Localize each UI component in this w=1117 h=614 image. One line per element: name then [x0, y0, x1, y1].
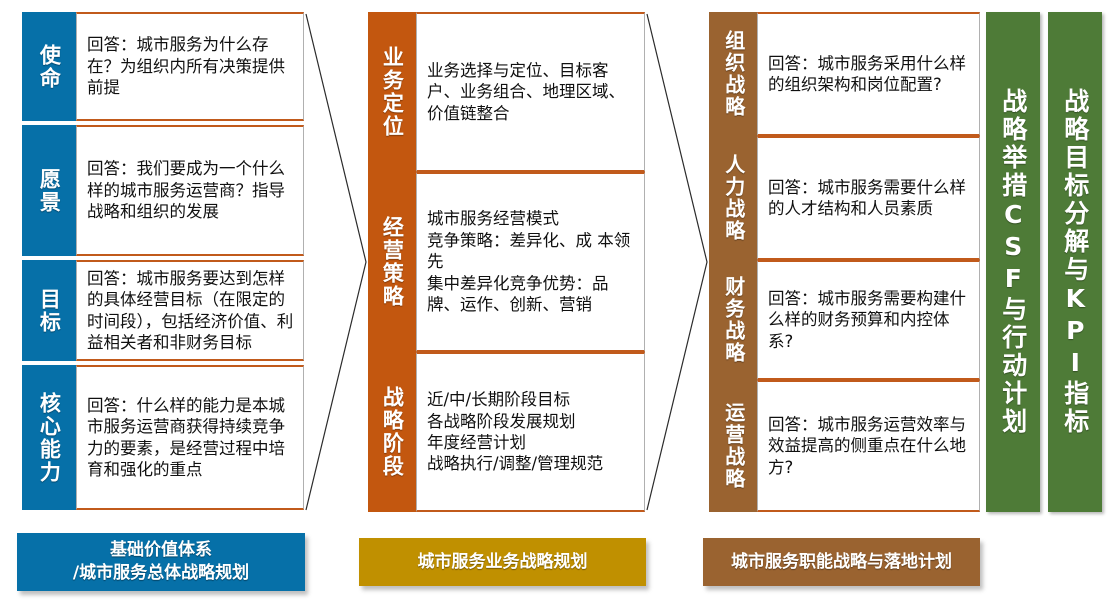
- cell-text: 业务选择与定位、目标客户、业务组合、地理区域、价值链整合: [417, 60, 644, 124]
- spine-label: 组织战略: [721, 30, 745, 118]
- banner-business[interactable]: 城市服务业务战略规划: [359, 538, 646, 586]
- banner-foundation[interactable]: 基础价值体系 /城市服务总体战略规划: [17, 533, 305, 591]
- spine-vision: 愿景: [22, 125, 76, 256]
- spine-org-strategy: 组织战略: [709, 12, 757, 136]
- spine-core-capability: 核心能力: [22, 365, 76, 510]
- cell-operations-strategy: 回答：城市服务运营效率与效益提高的侧重点在什么地方?: [757, 380, 980, 512]
- column-csf-action-plan[interactable]: 战略举措CSF与行动计划: [986, 12, 1040, 512]
- cell-core-capability: 回答：什么样的能力是本城市服务运营商获得持续竞争力的要素，是经营过程中培育和强化…: [76, 365, 304, 510]
- connector-line: [647, 14, 707, 510]
- cell-text: 近/中/长期阶段目标 各战略阶段发展规划 年度经营计划 战略执行/调整/管理规范: [417, 389, 611, 475]
- spine-hr-strategy: 人力战略: [709, 136, 757, 260]
- spine-operations-strategy: 运营战略: [709, 380, 757, 512]
- spine-label: 核心能力: [37, 392, 62, 484]
- banner-label: 城市服务业务战略规划: [418, 551, 588, 574]
- cell-operating-strategy: 城市服务经营模式 竞争策略：差异化、成 本领先 集中差异化竞争优势：品牌、运作、…: [416, 172, 645, 352]
- spine-finance-strategy: 财务战略: [709, 260, 757, 380]
- cell-text: 回答：城市服务采用什么样的组织架构和岗位配置?: [758, 53, 979, 96]
- cell-text: 回答：城市服务为什么存在？为组织内所有决策提供前提: [77, 34, 303, 98]
- column-label: 战略目标分解与KPI指标: [1060, 88, 1090, 436]
- spine-objective: 目标: [22, 260, 76, 361]
- spine-label: 愿景: [37, 168, 62, 214]
- column-label: 战略举措CSF与行动计划: [998, 88, 1028, 436]
- spine-label: 使命: [37, 44, 62, 90]
- cell-finance-strategy: 回答：城市服务需要构建什么样的财务预算和内控体系?: [757, 260, 980, 380]
- spine-label: 财务战略: [721, 276, 745, 364]
- connector-line: [306, 14, 366, 510]
- spine-label: 目标: [37, 288, 62, 334]
- cell-text: 回答：城市服务运营效率与效益提高的侧重点在什么地方?: [758, 414, 979, 478]
- spine-operating-strategy: 经营策略: [368, 172, 416, 352]
- cell-text: 回答：什么样的能力是本城市服务运营商获得持续竞争力的要素，是经营过程中培育和强化…: [77, 395, 303, 481]
- cell-org-strategy: 回答：城市服务采用什么样的组织架构和岗位配置?: [757, 12, 980, 136]
- cell-business-positioning: 业务选择与定位、目标客户、业务组合、地理区域、价值链整合: [416, 12, 645, 172]
- spine-strategy-phase: 战略阶段: [368, 352, 416, 512]
- banner-functional[interactable]: 城市服务职能战略与落地计划: [703, 538, 980, 586]
- spine-label: 人力战略: [721, 154, 745, 242]
- spine-label: 业务定位: [380, 46, 405, 138]
- banner-label: 城市服务职能战略与落地计划: [731, 551, 952, 574]
- column-kpi-breakdown[interactable]: 战略目标分解与KPI指标: [1048, 12, 1102, 512]
- banner-label: 基础价值体系 /城市服务总体战略规划: [73, 539, 249, 585]
- cell-vision: 回答：我们要成为一个什么样的城市服务运营商？指导战略和组织的发展: [76, 125, 304, 256]
- cell-text: 回答：城市服务需要什么样的人才结构和人员素质: [758, 177, 979, 220]
- cell-objective: 回答：城市服务要达到怎样的具体经营目标（在限定的时间段），包括经济价值、利益相关…: [76, 260, 304, 361]
- spine-business-positioning: 业务定位: [368, 12, 416, 172]
- cell-hr-strategy: 回答：城市服务需要什么样的人才结构和人员素质: [757, 136, 980, 260]
- cell-text: 回答：城市服务要达到怎样的具体经营目标（在限定的时间段），包括经济价值、利益相关…: [77, 268, 303, 354]
- connector-foundation-to-business: [304, 12, 368, 512]
- diagram-canvas: 使命 回答：城市服务为什么存在？为组织内所有决策提供前提 愿景 回答：我们要成为…: [0, 0, 1117, 614]
- spine-mission: 使命: [22, 12, 76, 121]
- cell-mission: 回答：城市服务为什么存在？为组织内所有决策提供前提: [76, 12, 304, 121]
- spine-label: 运营战略: [721, 402, 745, 490]
- spine-label: 战略阶段: [380, 386, 405, 478]
- cell-text: 回答：我们要成为一个什么样的城市服务运营商？指导战略和组织的发展: [77, 158, 303, 222]
- cell-strategy-phase: 近/中/长期阶段目标 各战略阶段发展规划 年度经营计划 战略执行/调整/管理规范: [416, 352, 645, 512]
- cell-text: 城市服务经营模式 竞争策略：差异化、成 本领先 集中差异化竞争优势：品牌、运作、…: [417, 208, 644, 315]
- connector-business-to-functional: [645, 12, 709, 512]
- cell-text: 回答：城市服务需要构建什么样的财务预算和内控体系?: [758, 288, 979, 352]
- spine-label: 经营策略: [380, 216, 405, 308]
